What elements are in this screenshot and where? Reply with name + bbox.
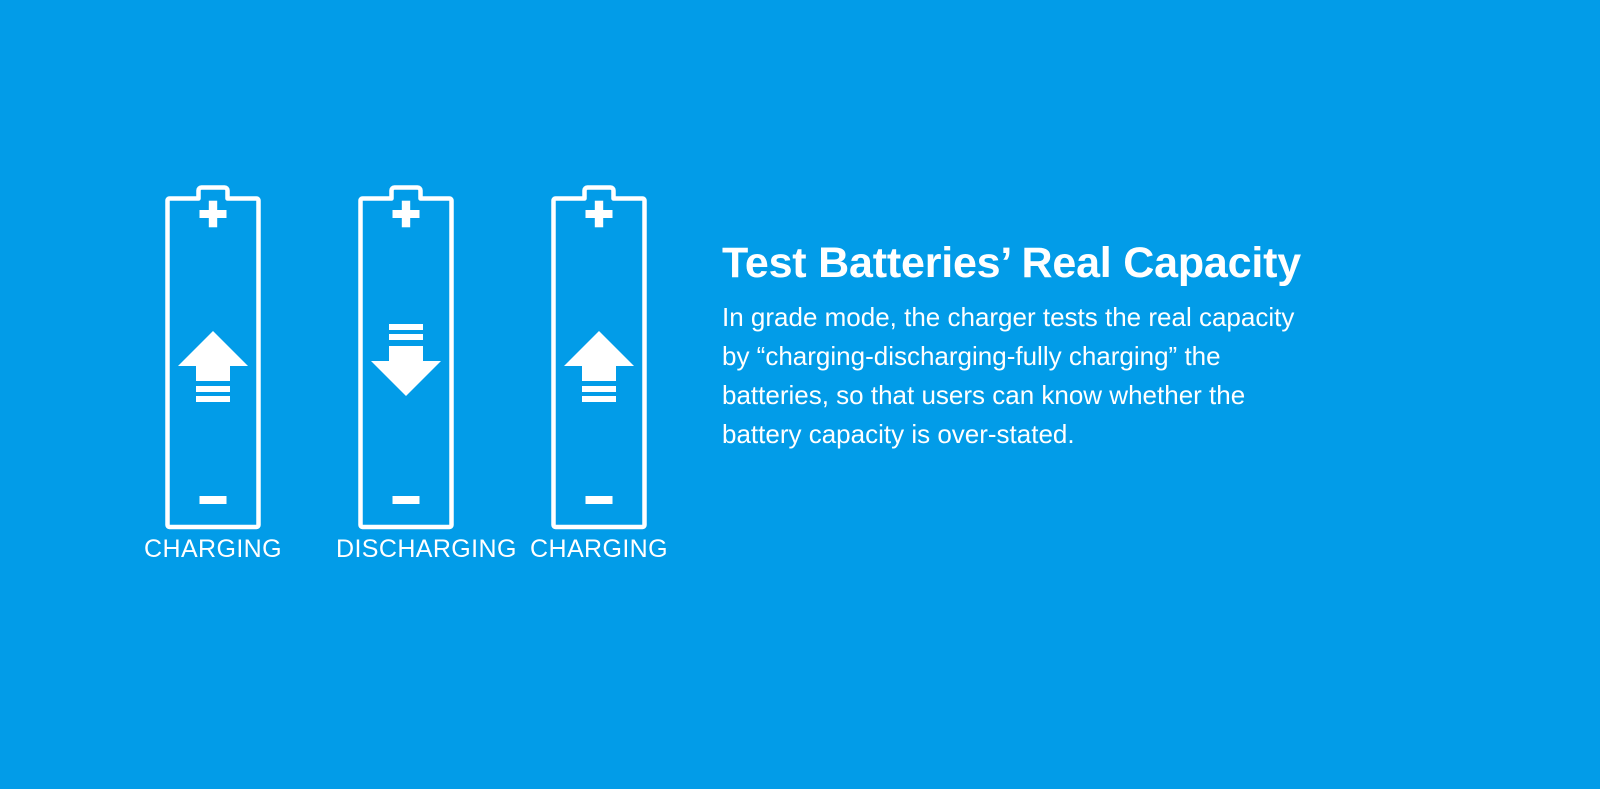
battery-label: CHARGING [529, 535, 669, 564]
battery-item-discharging: DISCHARGING [336, 185, 476, 585]
battery-down-arrow-icon [358, 185, 454, 530]
battery-item-charging-2: CHARGING [529, 185, 669, 585]
promo-banner: CHARGING DISCHARGING [0, 0, 1600, 789]
battery-up-arrow-icon [165, 185, 261, 530]
page-title: Test Batteries’ Real Capacity [722, 236, 1322, 290]
copy-block: Test Batteries’ Real Capacity In grade m… [722, 236, 1322, 454]
battery-label: DISCHARGING [336, 535, 476, 564]
battery-item-charging-1: CHARGING [143, 185, 283, 585]
body-line: by “charging-discharging-fully charging”… [722, 337, 1302, 376]
battery-label: CHARGING [143, 535, 283, 564]
body-line: batteries, so that users can know whethe… [722, 376, 1302, 415]
body-line: battery capacity is over-stated. [722, 415, 1302, 454]
battery-illustration-group: CHARGING DISCHARGING [178, 185, 698, 585]
battery-up-arrow-icon [551, 185, 647, 530]
body-line: In grade mode, the charger tests the rea… [722, 298, 1302, 337]
body-copy: In grade mode, the charger tests the rea… [722, 298, 1302, 454]
